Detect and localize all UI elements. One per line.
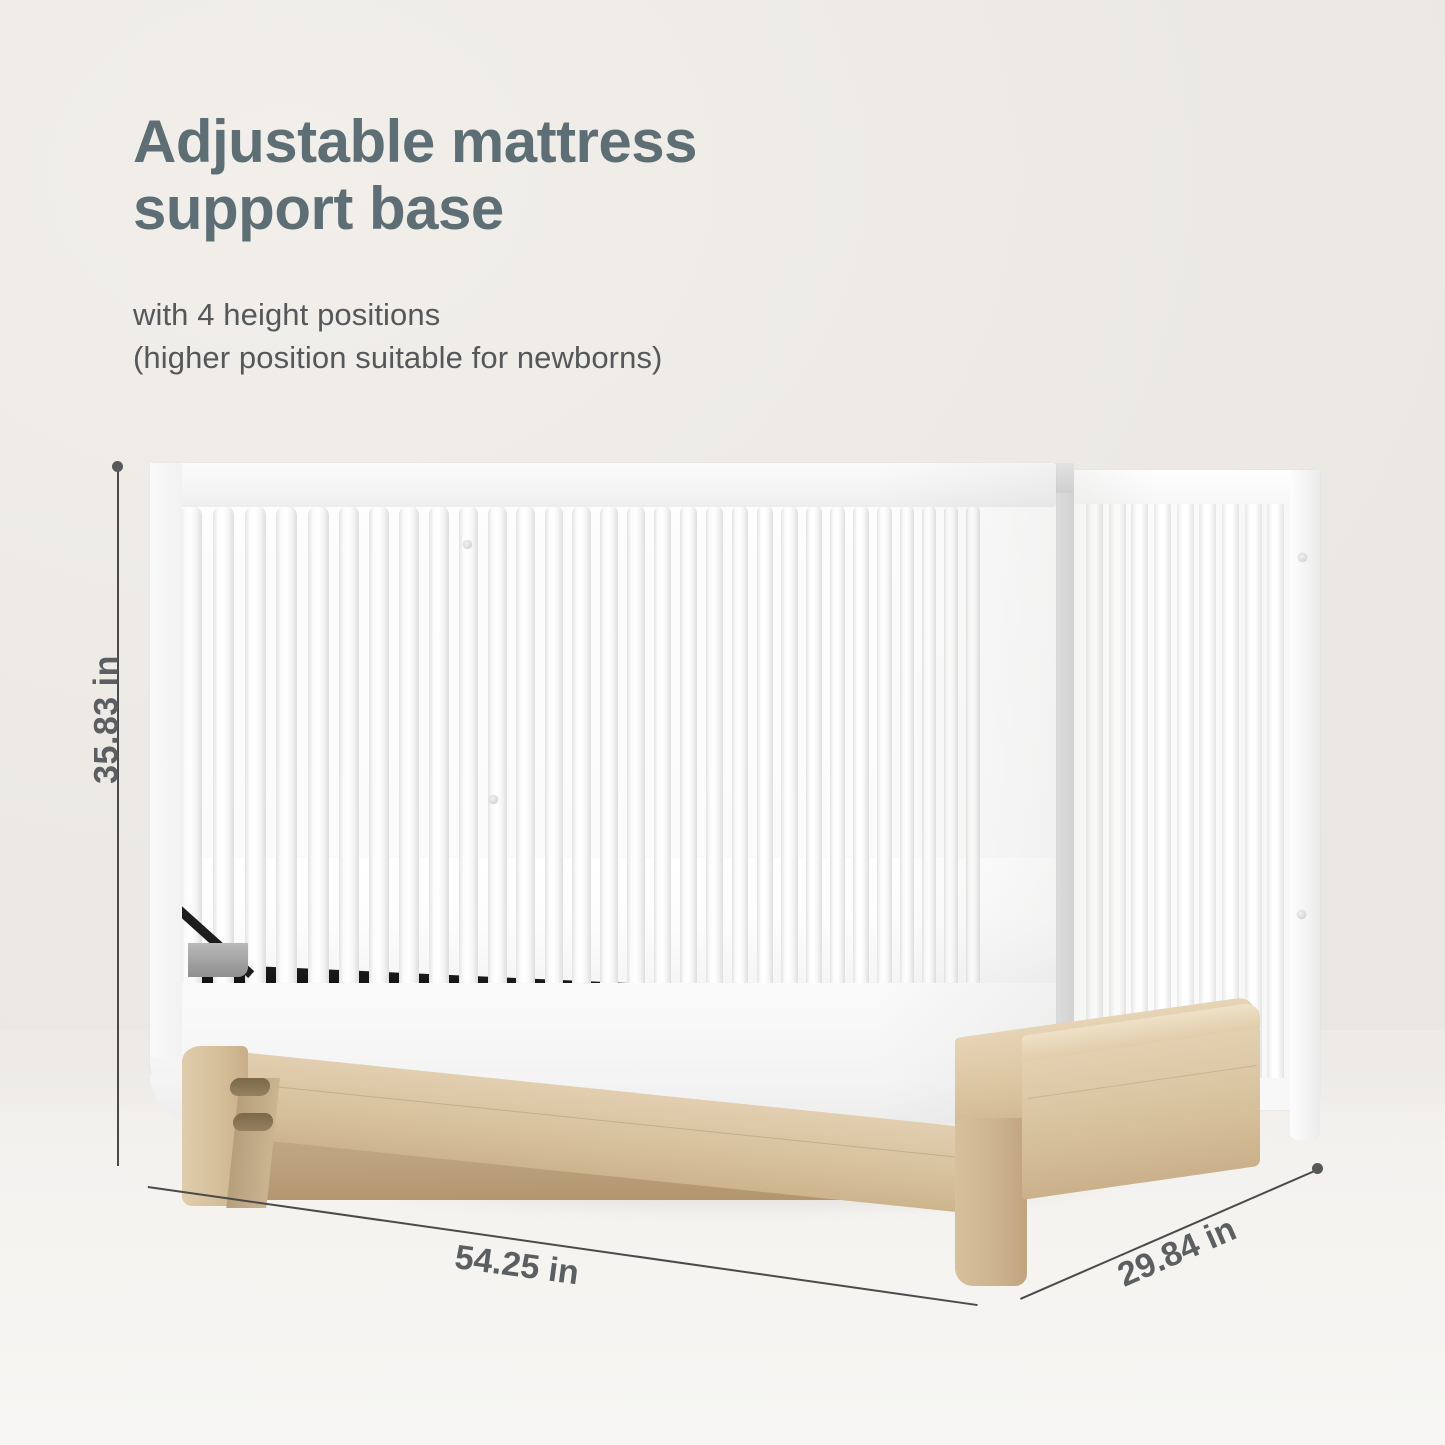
dimension-endpoint-dot xyxy=(1312,1163,1323,1174)
height-adjust-notch xyxy=(232,1113,274,1131)
infographic-canvas: Adjustable mattress support base with 4 … xyxy=(0,0,1445,1445)
height-dimension-line xyxy=(117,466,119,1166)
height-adjust-notch xyxy=(229,1078,271,1096)
wood-base-right-leg xyxy=(955,1118,1027,1286)
dimension-endpoint-dot xyxy=(112,461,123,472)
height-dimension-label: 35.83 in xyxy=(88,630,127,810)
